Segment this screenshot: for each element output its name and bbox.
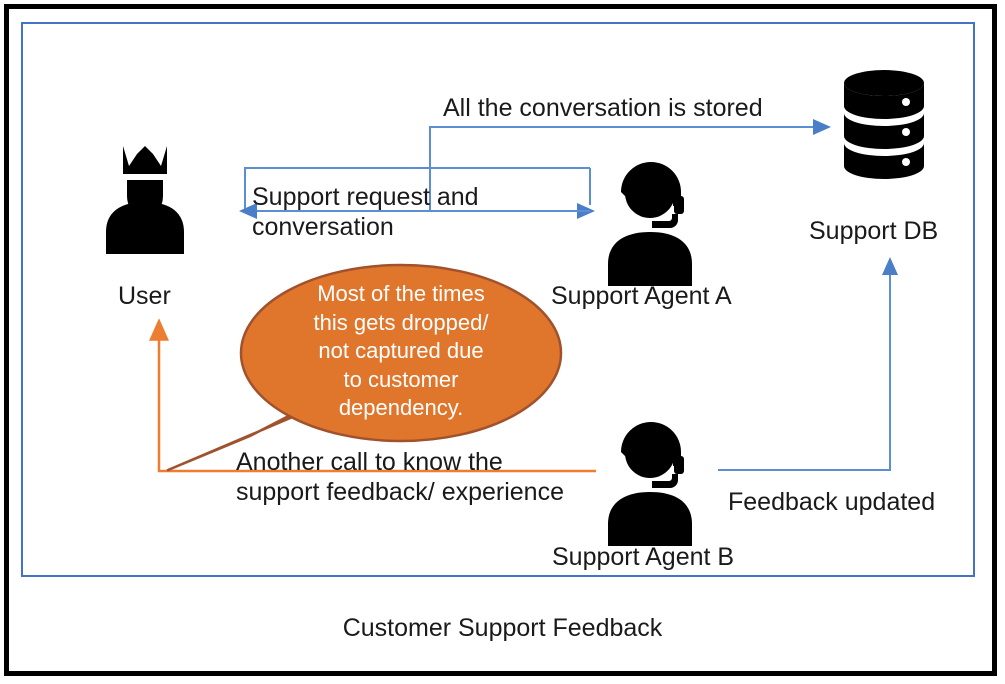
database-icon [844, 70, 924, 179]
edge-label-conversation-stored: All the conversation is stored [443, 93, 763, 123]
edge-label-another-call: Another call to know the support feedbac… [236, 447, 606, 507]
edge-label-support-request: Support request and conversation [252, 182, 582, 242]
edge-label-feedback-updated: Feedback updated [728, 487, 935, 517]
node-label-support-agent-b: Support Agent B [552, 542, 734, 572]
support-agent-headset-icon [608, 162, 692, 286]
figure-caption: Customer Support Feedback [0, 614, 1005, 643]
diagram-canvas: User Support Agent A Support Agent B Sup… [0, 0, 1005, 684]
node-label-support-db: Support DB [809, 216, 938, 246]
edge-feedback-updated [718, 260, 890, 470]
user-crown-icon [106, 146, 184, 254]
support-agent-headset-icon [608, 422, 692, 546]
node-label-support-agent-a: Support Agent A [551, 281, 732, 311]
node-label-user: User [118, 281, 171, 311]
callout-text: Most of the times this gets dropped/ not… [262, 280, 540, 423]
